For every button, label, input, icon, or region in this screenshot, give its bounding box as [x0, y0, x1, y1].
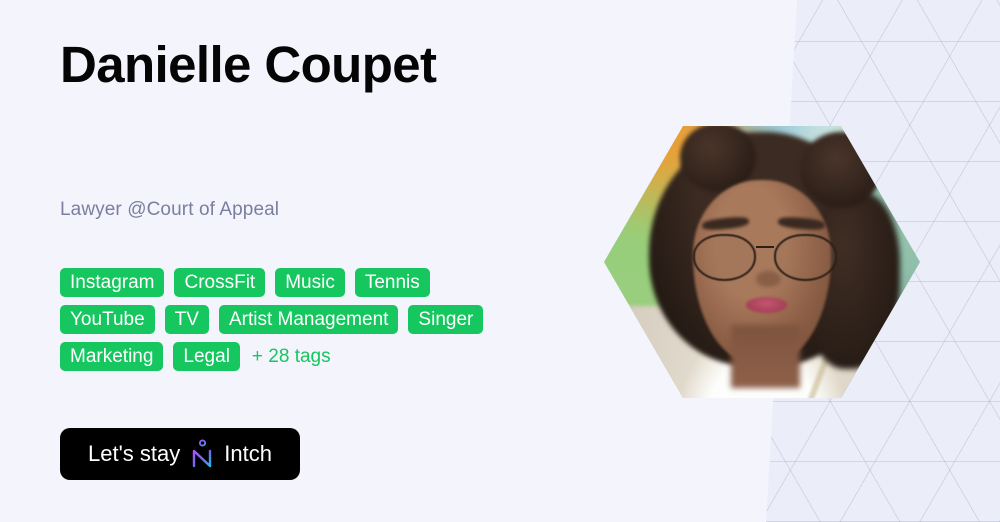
photo-glasses-bridge [756, 246, 773, 249]
profile-headline: Lawyer @Court of Appeal [60, 199, 279, 221]
avatar [605, 104, 919, 420]
profile-card: Danielle Coupet Lawyer @Court of Appeal … [0, 0, 1000, 522]
tag-chip[interactable]: TV [165, 305, 209, 334]
tag-chip[interactable]: YouTube [60, 305, 155, 334]
tag-chip[interactable]: Singer [408, 305, 483, 334]
tag-chip[interactable]: Marketing [60, 342, 163, 371]
lets-stay-intch-button[interactable]: Let's stay Intch [60, 428, 300, 480]
cta-label-before: Let's stay [88, 441, 180, 467]
photo-lens-right [774, 234, 838, 281]
photo-lens-left [693, 234, 757, 281]
tag-chip[interactable]: Music [275, 268, 345, 297]
page-title: Danielle Coupet [60, 36, 480, 94]
photo-neck [731, 325, 800, 388]
tag-chip[interactable]: Instagram [60, 268, 164, 297]
photo-hair-bun-right [800, 132, 882, 208]
intch-n-logo-icon [189, 439, 215, 469]
tag-chip[interactable]: Tennis [355, 268, 430, 297]
tag-chip[interactable]: Artist Management [219, 305, 398, 334]
avatar-photo [605, 105, 919, 419]
hexagon-avatar-mask [604, 105, 920, 419]
profile-details: Danielle Coupet Lawyer @Court of Appeal … [60, 0, 600, 522]
tag-chip[interactable]: CrossFit [174, 268, 265, 297]
cta-label-after: Intch [224, 441, 272, 467]
glasses-icon [693, 234, 837, 281]
tag-list: Instagram CrossFit Music Tennis YouTube … [60, 268, 530, 371]
tag-chip[interactable]: Legal [173, 342, 240, 371]
photo-lips [746, 297, 787, 313]
more-tags-link[interactable]: + 28 tags [250, 347, 331, 366]
